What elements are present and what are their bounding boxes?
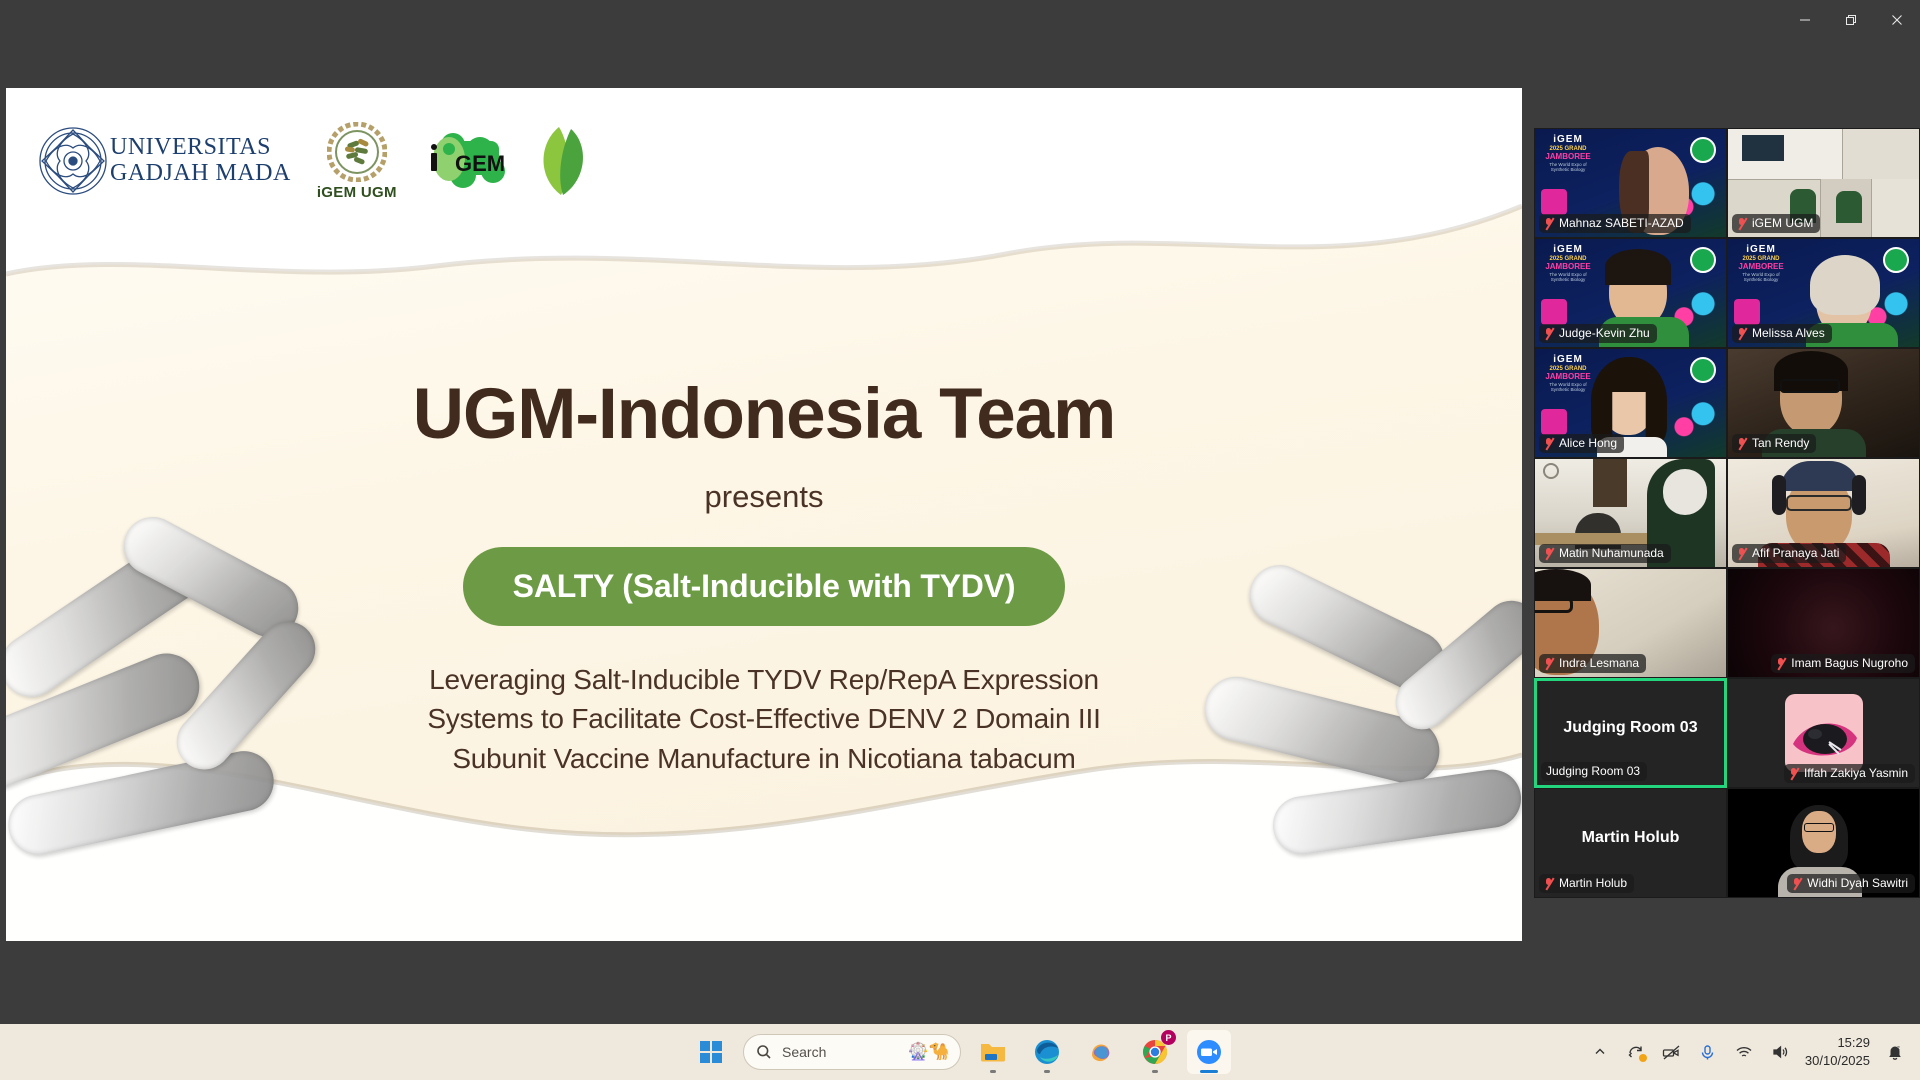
pink-decor-block: [1541, 409, 1567, 435]
svg-text:z: z: [1897, 1046, 1900, 1052]
pink-decor-block: [1541, 299, 1567, 325]
participant-name-badge: Judging Room 03: [1541, 762, 1647, 781]
slide-subtitle-line: Subunit Vaccine Manufacture in Nicotiana…: [6, 739, 1522, 779]
slide-subtitle-line: Leveraging Salt-Inducible TYDV Rep/RepA …: [6, 660, 1522, 700]
taskbar-clock[interactable]: 15:29 30/10/2025: [1805, 1034, 1870, 1069]
mic-muted-icon: [1544, 437, 1555, 450]
filmstrip-row: iGEM2025 GRAND JAMBOREEThe World Expo of…: [1534, 348, 1920, 458]
microphone-icon[interactable]: [1697, 1041, 1719, 1063]
microsoft-copilot-icon[interactable]: [1079, 1030, 1123, 1074]
glasses-icon: [1534, 597, 1573, 613]
participant-name: Alice Hong: [1559, 436, 1617, 450]
participant-name: Indra Lesmana: [1559, 656, 1639, 670]
mic-muted-icon: [1544, 657, 1555, 670]
window-titlebar: [0, 0, 1920, 40]
participant-name-badge: Iffah Zakiya Yasmin: [1784, 764, 1915, 783]
search-placeholder: Search: [782, 1044, 898, 1060]
sync-alert-dot: [1639, 1054, 1647, 1062]
participant-name: Afif Pranaya Jati: [1752, 546, 1839, 560]
participant-name-badge: Judge-Kevin Zhu: [1539, 324, 1657, 343]
search-box[interactable]: Search 🎡🐪: [743, 1034, 961, 1070]
pink-decor-block: [1541, 189, 1567, 215]
mic-muted-icon: [1544, 547, 1555, 560]
participant-tile[interactable]: Martin Holub Martin Holub: [1534, 788, 1727, 898]
slide-subtitle: Leveraging Salt-Inducible TYDV Rep/RepA …: [6, 660, 1522, 779]
mic-muted-icon: [1737, 327, 1748, 340]
glasses-icon: [1786, 495, 1852, 511]
participant-tile[interactable]: Iffah Zakiya Yasmin: [1727, 678, 1920, 788]
igem-ugm-logo: iGEM UGM: [317, 122, 397, 201]
mic-muted-icon: [1737, 547, 1748, 560]
microsoft-edge-icon[interactable]: [1025, 1030, 1069, 1074]
participant-name-badge: Melissa Alves: [1732, 324, 1832, 343]
file-explorer-icon[interactable]: [971, 1030, 1015, 1074]
participant-tile[interactable]: Afif Pranaya Jati: [1727, 458, 1920, 568]
mic-muted-icon: [1776, 657, 1787, 670]
volume-icon[interactable]: [1769, 1041, 1791, 1063]
mic-muted-icon: [1544, 877, 1555, 890]
participant-name: iGEM UGM: [1752, 216, 1813, 230]
glasses-icon: [1804, 823, 1834, 832]
participant-name: Martin Holub: [1559, 876, 1627, 890]
participant-name: Judge-Kevin Zhu: [1559, 326, 1650, 340]
mic-muted-icon: [1544, 327, 1555, 340]
pink-decor-block: [1734, 299, 1760, 325]
jamboree-logo-icon: iGEM2025 GRAND JAMBOREEThe World Expo of…: [1542, 354, 1594, 392]
participant-tile[interactable]: Widhi Dyah Sawitri: [1727, 788, 1920, 898]
participant-tile-active[interactable]: Judging Room 03 Judging Room 03: [1534, 678, 1727, 788]
participant-name-badge: Imam Bagus Nugroho: [1771, 654, 1915, 673]
green-badge-icon: [1690, 357, 1716, 383]
participant-name: Tan Rendy: [1752, 436, 1809, 450]
glasses-icon: [1780, 379, 1840, 393]
screen-share-area: UNIVERSITAS GADJAH MADA: [6, 88, 1522, 941]
filmstrip-row: Judging Room 03 Judging Room 03: [1534, 678, 1920, 788]
running-indicator: [1044, 1070, 1050, 1073]
wall-clock-icon: [1543, 463, 1559, 479]
participant-tile[interactable]: Matin Nuhamunada: [1534, 458, 1727, 568]
jamboree-logo-icon: iGEM2025 GRAND JAMBOREEThe World Expo of…: [1542, 244, 1594, 282]
igem-ugm-seal-icon: [327, 122, 387, 182]
no-camera-icon[interactable]: [1661, 1041, 1683, 1063]
project-name-pill: SALTY (Salt-Inducible with TYDV): [463, 547, 1066, 626]
igem-logo: GEM: [423, 129, 505, 193]
filmstrip-row: Matin Nuhamunada Afif Pranaya Jati: [1534, 458, 1920, 568]
participant-tile[interactable]: iGEM2025 GRAND JAMBOREEThe World Expo of…: [1727, 238, 1920, 348]
filmstrip-row: Indra Lesmana Imam Bagus Nugroho: [1534, 568, 1920, 678]
running-indicator: [990, 1070, 996, 1073]
participant-name-badge: Matin Nuhamunada: [1539, 544, 1671, 563]
active-indicator: [1200, 1070, 1218, 1073]
mic-muted-icon: [1792, 877, 1803, 890]
participant-name-badge: Indra Lesmana: [1539, 654, 1646, 673]
participant-filmstrip[interactable]: iGEM2025 GRAND JAMBOREEThe World Expo of…: [1534, 128, 1920, 898]
wifi-icon[interactable]: [1733, 1041, 1755, 1063]
taskbar-center-group: Search 🎡🐪: [689, 1024, 1231, 1080]
sync-icon[interactable]: [1625, 1041, 1647, 1063]
show-hidden-icons-button[interactable]: [1589, 1041, 1611, 1063]
participant-name-badge: Martin Holub: [1539, 874, 1634, 893]
ugm-wordmark: UNIVERSITAS GADJAH MADA: [110, 135, 291, 187]
mic-muted-icon: [1544, 217, 1555, 230]
participant-name: Iffah Zakiya Yasmin: [1804, 766, 1908, 780]
mic-muted-icon: [1789, 767, 1800, 780]
participant-tile[interactable]: iGEM2025 GRAND JAMBOREEThe World Expo of…: [1534, 128, 1727, 238]
participant-hair: [1810, 255, 1880, 315]
slide-text-block: UGM-Indonesia Team presents SALTY (Salt-…: [6, 378, 1522, 779]
participant-tile[interactable]: Imam Bagus Nugroho: [1727, 568, 1920, 678]
zoom-icon[interactable]: [1187, 1030, 1231, 1074]
mic-muted-icon: [1737, 217, 1748, 230]
leaf-logo: [531, 125, 593, 197]
clock-date: 30/10/2025: [1805, 1052, 1870, 1070]
avatar: [1785, 694, 1863, 772]
green-badge-icon: [1690, 137, 1716, 163]
clock-time: 15:29: [1805, 1034, 1870, 1052]
jamboree-logo-icon: iGEM2025 GRAND JAMBOREEThe World Expo of…: [1735, 244, 1787, 282]
headphone-icon: [1772, 475, 1786, 515]
presentation-slide: UNIVERSITAS GADJAH MADA: [6, 88, 1522, 941]
search-icon: [756, 1044, 772, 1060]
participant-name-badge: Tan Rendy: [1732, 434, 1816, 453]
jamboree-logo-icon: iGEM2025 GRAND JAMBOREEThe World Expo of…: [1542, 134, 1594, 172]
google-chrome-icon[interactable]: P: [1133, 1030, 1177, 1074]
start-button[interactable]: [689, 1030, 733, 1074]
running-indicator: [1152, 1070, 1158, 1073]
filmstrip-row: iGEM2025 GRAND JAMBOREEThe World Expo of…: [1534, 128, 1920, 238]
green-badge-icon: [1883, 247, 1909, 273]
filmstrip-row: Martin Holub Martin Holub Widhi Dyah Saw…: [1534, 788, 1920, 898]
ugm-crest-icon: [36, 124, 110, 198]
participant-name: Melissa Alves: [1752, 326, 1825, 340]
participant-name-badge: Afif Pranaya Jati: [1732, 544, 1846, 563]
svg-text:GEM: GEM: [455, 151, 505, 176]
igem-gear-icon: GEM: [423, 129, 505, 193]
windows-taskbar: Search 🎡🐪: [0, 1024, 1920, 1080]
headphone-icon: [1852, 475, 1866, 515]
participant-tile[interactable]: Indra Lesmana: [1534, 568, 1727, 678]
slide-title: UGM-Indonesia Team: [6, 378, 1522, 453]
slide-subtitle-line: Systems to Facilitate Cost-Effective DEN…: [6, 699, 1522, 739]
participant-name-badge: Mahnaz SABETI-AZAD: [1539, 214, 1691, 233]
igem-ugm-caption: iGEM UGM: [317, 184, 397, 201]
restore-button[interactable]: [1828, 0, 1874, 40]
participant-name: Widhi Dyah Sawitri: [1807, 876, 1908, 890]
participant-name-badge: iGEM UGM: [1732, 214, 1820, 233]
participant-name: Matin Nuhamunada: [1559, 546, 1664, 560]
notification-icon[interactable]: z: [1884, 1041, 1906, 1063]
participant-tile[interactable]: iGEM UGM: [1727, 128, 1920, 238]
participant-tile[interactable]: iGEM2025 GRAND JAMBOREEThe World Expo of…: [1534, 238, 1727, 348]
green-badge-icon: [1690, 247, 1716, 273]
chrome-profile-badge: P: [1161, 1030, 1176, 1045]
participant-tile[interactable]: iGEM2025 GRAND JAMBOREEThe World Expo of…: [1534, 348, 1727, 458]
participant-video: [1802, 811, 1836, 853]
slide-logo-row: UNIVERSITAS GADJAH MADA: [36, 118, 593, 204]
participant-hair: [1605, 249, 1671, 285]
participant-tile[interactable]: Tan Rendy: [1727, 348, 1920, 458]
participant-name-badge: Widhi Dyah Sawitri: [1787, 874, 1915, 893]
mic-muted-icon: [1737, 437, 1748, 450]
leaf-icon: [531, 125, 593, 197]
slide-presents-label: presents: [6, 479, 1522, 515]
system-tray: 15:29 30/10/2025 z: [1589, 1024, 1920, 1080]
participant-name: Mahnaz SABETI-AZAD: [1559, 216, 1684, 230]
zoom-meeting-window: UNIVERSITAS GADJAH MADA: [0, 0, 1920, 1080]
ugm-logo: UNIVERSITAS GADJAH MADA: [36, 124, 291, 198]
participant-name-badge: Alice Hong: [1539, 434, 1624, 453]
participant-name: Imam Bagus Nugroho: [1791, 656, 1908, 670]
minimize-button[interactable]: [1782, 0, 1828, 40]
camel-emoji-icon: 🎡🐪: [908, 1042, 950, 1062]
participant-name: Judging Room 03: [1546, 764, 1640, 778]
filmstrip-row: iGEM2025 GRAND JAMBOREEThe World Expo of…: [1534, 238, 1920, 348]
close-button[interactable]: [1874, 0, 1920, 40]
